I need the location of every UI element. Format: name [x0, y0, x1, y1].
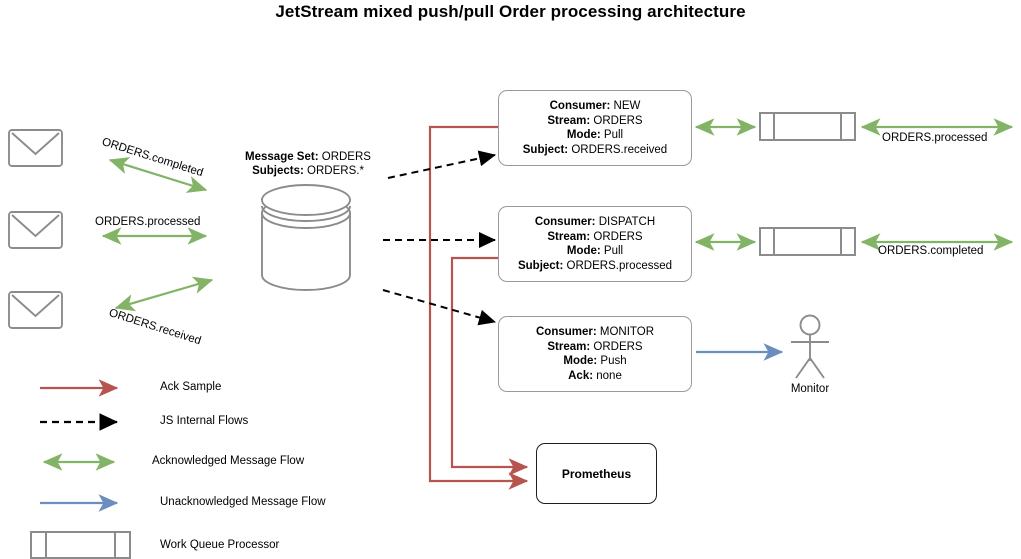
stream-value: ORDERS: [593, 231, 642, 243]
stream-label: Stream:: [547, 341, 590, 353]
mode-value: Push: [600, 355, 626, 367]
flow-label-orders-processed: ORDERS.processed: [95, 216, 200, 228]
subject-label: Subject:: [518, 260, 563, 272]
page-title: JetStream mixed push/pull Order processi…: [0, 2, 1021, 22]
diagram-canvas: JetStream mixed push/pull Order processi…: [0, 0, 1021, 559]
ack-label: Ack:: [568, 370, 593, 382]
prometheus-label: Prometheus: [562, 467, 631, 481]
legend-label-unacknowledged-flow: Unacknowledged Message Flow: [160, 496, 326, 508]
stream-value: ORDERS: [593, 341, 642, 353]
consumer-value: DISPATCH: [599, 216, 655, 228]
consumer-box-monitor[interactable]: Consumer: MONITOR Stream: ORDERS Mode: P…: [498, 316, 692, 392]
ack-line-new-to-prometheus: [430, 127, 527, 481]
flow-label-orders-completed: ORDERS.completed: [100, 136, 204, 179]
js-internal-flow-to-new: [388, 155, 495, 178]
message-set-value: ORDERS: [322, 151, 371, 163]
mode-label: Mode:: [567, 245, 601, 257]
database-cylinder-icon: [262, 185, 350, 290]
consumer-value: NEW: [614, 100, 641, 112]
subject-value: ORDERS.received: [571, 144, 667, 156]
consumer-box-new[interactable]: Consumer: NEW Stream: ORDERS Mode: Pull …: [498, 90, 692, 166]
stream-value: ORDERS: [593, 115, 642, 127]
envelope-icon: [9, 130, 62, 166]
wq-label-orders-processed: ORDERS.processed: [882, 132, 987, 144]
message-set-label: Message Set:: [245, 151, 319, 163]
subjects-value: ORDERS.*: [307, 165, 364, 177]
flow-arrow-orders-received: [116, 280, 212, 308]
flow-label-orders-received: ORDERS.received: [107, 307, 202, 347]
legend-label-ack-sample: Ack Sample: [160, 381, 221, 393]
subjects-label: Subjects:: [252, 165, 304, 177]
stream-label: Stream:: [547, 231, 590, 243]
wq-label-orders-completed: ORDERS.completed: [878, 245, 983, 257]
legend-label-js-internal-flows: JS Internal Flows: [160, 415, 248, 427]
prometheus-box[interactable]: Prometheus: [536, 443, 657, 504]
ack-value: none: [596, 370, 622, 382]
stick-figure-icon: [791, 316, 829, 379]
js-internal-flow-to-monitor: [383, 290, 495, 322]
consumer-label: Consumer:: [535, 216, 596, 228]
consumer-label: Consumer:: [536, 326, 597, 338]
message-set-caption: Message Set: ORDERS Subjects: ORDERS.*: [228, 150, 388, 178]
mode-value: Pull: [604, 129, 623, 141]
consumer-label: Consumer:: [550, 100, 611, 112]
legend-label-acknowledged-flow: Acknowledged Message Flow: [152, 455, 304, 467]
stream-label: Stream:: [547, 115, 590, 127]
mode-value: Pull: [604, 245, 623, 257]
envelope-icon: [9, 292, 62, 328]
mode-label: Mode:: [567, 129, 601, 141]
subject-label: Subject:: [523, 144, 568, 156]
consumer-box-dispatch[interactable]: Consumer: DISPATCH Stream: ORDERS Mode: …: [498, 206, 692, 282]
envelope-icon: [9, 212, 62, 248]
actor-label-monitor: Monitor: [760, 383, 860, 395]
work-queue-processor-shape: [760, 113, 855, 140]
work-queue-processor-shape: [760, 228, 855, 255]
mode-label: Mode:: [563, 355, 597, 367]
legend-label-work-queue-processor: Work Queue Processor: [160, 539, 279, 551]
consumer-value: MONITOR: [600, 326, 654, 338]
subject-value: ORDERS.processed: [567, 260, 672, 272]
legend-icon-work-queue-processor: [31, 532, 130, 558]
